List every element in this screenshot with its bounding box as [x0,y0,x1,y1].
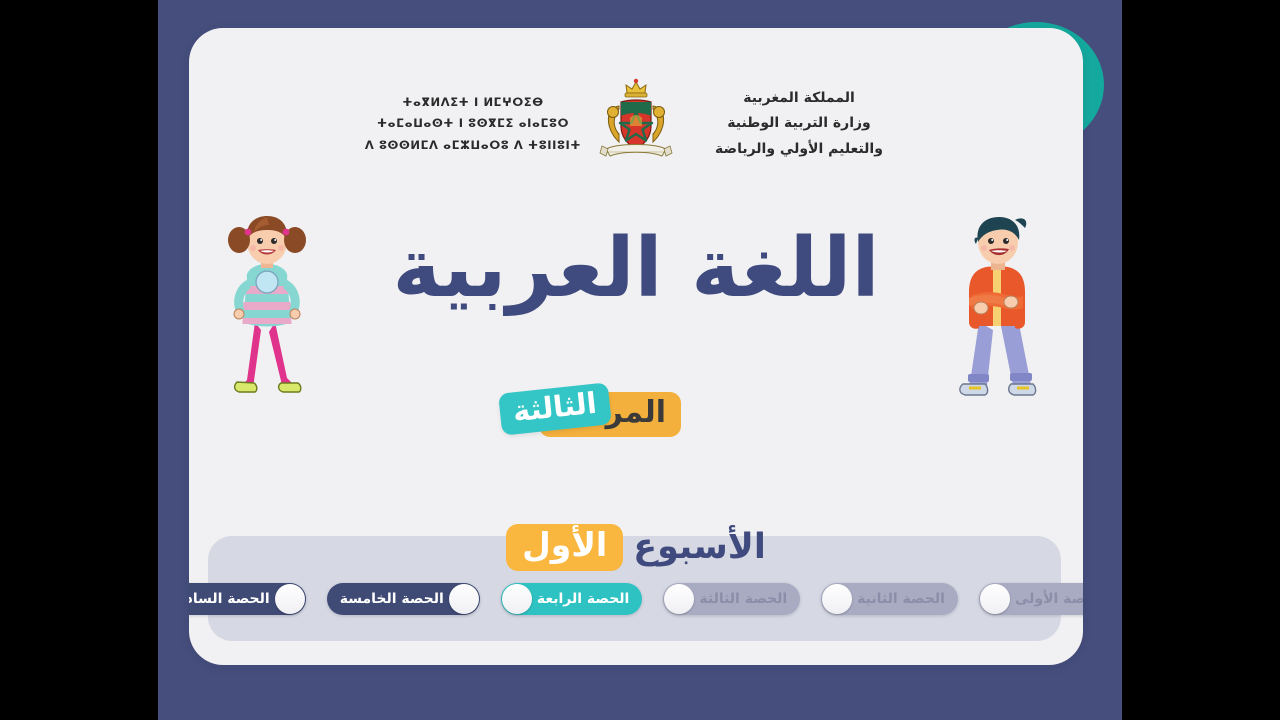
session-pill-knob-icon [980,584,1010,614]
session-pill-4[interactable]: الحصة الثالثة [663,583,800,615]
session-pill-label: الحصة الرابعة [537,591,630,607]
session-pill-6[interactable]: الحصة الأولى [979,583,1083,615]
arabic-line-1: المملكة المغربية [684,86,914,111]
page-title: اللغة العربية [189,226,1083,312]
ministry-header: ⵜⴰⴳⵍⴷⵉⵜ ⵏ ⵍⵎⵖⵔⵉⴱ ⵜⴰⵎⴰⵡⴰⵙⵜ ⵏ ⵓⵙⴳⵎⵉ ⴰⵏⴰⵎⵓⵔ… [189,76,1083,172]
week-label: الأسبوع [633,527,766,567]
session-pill-label: الحصة السادسة [189,591,270,607]
tifinagh-line-1: ⵜⴰⴳⵍⴷⵉⵜ ⵏ ⵍⵎⵖⵔⵉⴱ [358,92,588,113]
session-pill-label: الحصة الأولى [1015,591,1083,607]
week-value-pill: الأول [506,524,623,571]
tifinagh-line-3: ⴷ ⵓⵙⵙⵍⵎⴷ ⴰⵎⵣⵡⴰⵔⵓ ⴷ ⵜⵓⵏⵏⵓⵏⵜ [358,135,588,156]
session-pill-label: الحصة الثالثة [699,591,787,607]
session-pill-5[interactable]: الحصة الثانية [821,583,958,615]
ministry-arabic-text: المملكة المغربية وزارة التربية الوطنية و… [684,86,914,162]
title-section: اللغة العربية [189,204,1083,404]
morocco-coat-of-arms-icon [588,76,684,172]
session-pill-3[interactable]: الحصة الرابعة [501,583,643,615]
session-pill-label: الحصة الخامسة [340,591,444,607]
slide-card: ⵜⴰⴳⵍⴷⵉⵜ ⵏ ⵍⵎⵖⵔⵉⴱ ⵜⴰⵎⴰⵡⴰⵙⵜ ⵏ ⵓⵙⴳⵎⵉ ⴰⵏⴰⵎⵓⵔ… [189,28,1083,665]
session-pill-knob-icon [822,584,852,614]
arabic-line-2: وزارة التربية الوطنية [684,111,914,136]
session-pill-knob-icon [664,584,694,614]
ministry-tifinagh-text: ⵜⴰⴳⵍⴷⵉⵜ ⵏ ⵍⵎⵖⵔⵉⴱ ⵜⴰⵎⴰⵡⴰⵙⵜ ⵏ ⵓⵙⴳⵎⵉ ⴰⵏⴰⵎⵓⵔ… [358,92,588,156]
screen-root: المستوى الرابع ⵜⴰⴳⵍⴷⵉⵜ ⵏ ⵍⵎⵖⵔⵉⴱ ⵜⴰⵎⴰⵡⴰⵙⵜ… [0,0,1280,720]
session-pill-list: الحصة السادسةالحصة الخامسةالحصة الرابعةا… [208,583,1061,615]
session-pill-2[interactable]: الحصة الخامسة [327,583,480,615]
session-pill-1[interactable]: الحصة السادسة [189,583,306,615]
session-pill-knob-icon [449,584,479,614]
tifinagh-line-2: ⵜⴰⵎⴰⵡⴰⵙⵜ ⵏ ⵓⵙⴳⵎⵉ ⴰⵏⴰⵎⵓⵔ [358,113,588,134]
stage-badge: المرحلة الثالثة [189,386,1083,442]
session-pill-knob-icon [502,584,532,614]
week-indicator: الأسبوع الأول [189,524,1083,571]
session-pill-label: الحصة الثانية [857,591,945,607]
session-pill-knob-icon [275,584,305,614]
arabic-line-3: والتعليم الأولي والرياضة [684,137,914,162]
